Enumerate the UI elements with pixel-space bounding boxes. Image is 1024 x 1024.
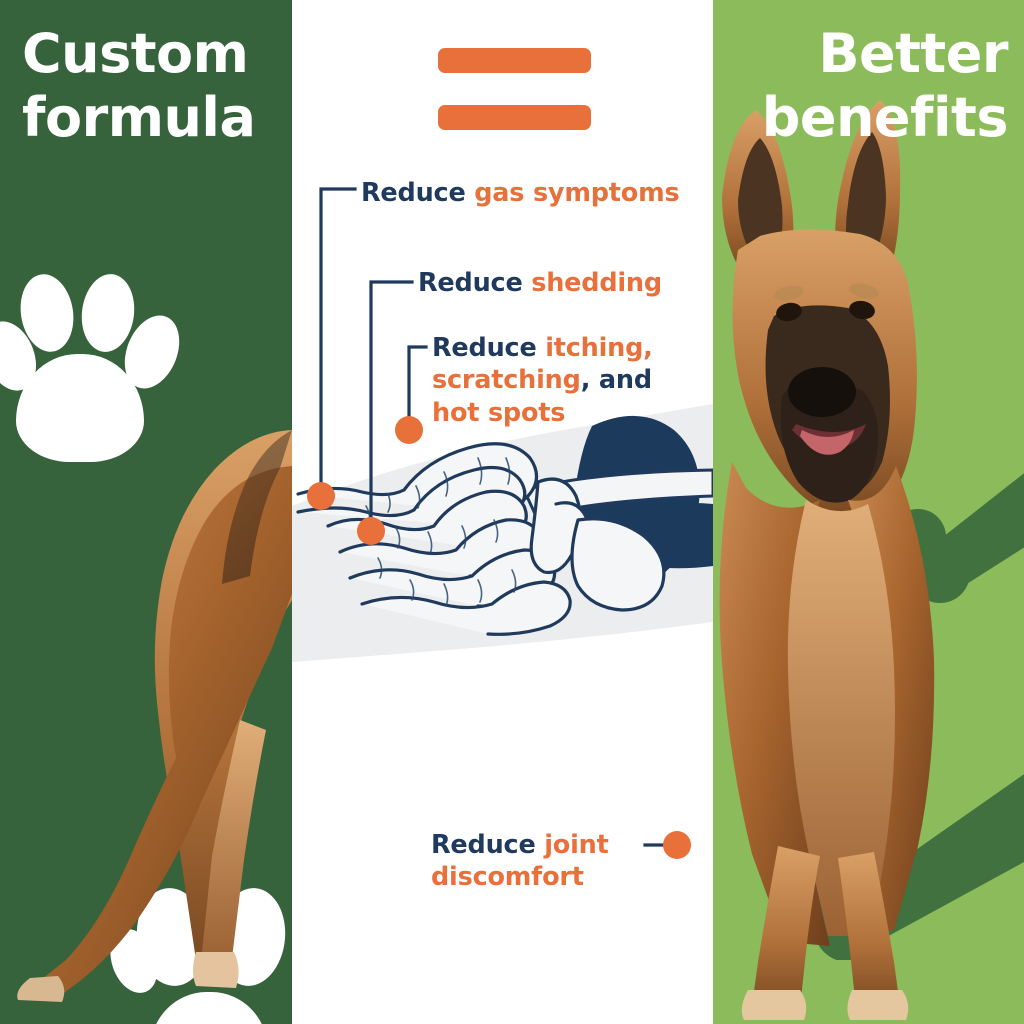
left-panel-heading: Custom formula	[22, 22, 284, 149]
callout-itching-highlight-3: hot spots	[432, 398, 565, 428]
callout-itching-highlight-2: scratching	[432, 365, 581, 395]
callout-shedding: Reduce shedding	[418, 267, 662, 299]
left-panel	[0, 0, 292, 1024]
paw-print-icon-bottom	[112, 888, 298, 1024]
right-panel-heading: Better benefits	[718, 22, 1008, 149]
callout-gas-prefix: Reduce	[361, 178, 474, 208]
bone-icon-top	[910, 405, 1024, 605]
callout-gas-highlight: gas symptoms	[474, 178, 679, 208]
callout-itching-prefix: Reduce	[432, 333, 545, 363]
callout-shedding-highlight: shedding	[531, 268, 662, 298]
callout-joint-discomfort: Reduce joint discomfort	[431, 829, 631, 894]
callout-itching: Reduce itching, scratching, and hot spot…	[432, 332, 690, 429]
callout-itching-highlight-1: itching,	[545, 333, 652, 363]
callout-itching-mid: , and	[581, 365, 652, 395]
callout-gas-symptoms: Reduce gas symptoms	[361, 177, 679, 209]
equals-bar-top	[438, 48, 591, 73]
equals-sign-icon	[438, 48, 591, 130]
infographic-root: Custom formula Better benefits Reduce ga…	[0, 0, 1024, 1024]
callout-joint-prefix: Reduce	[431, 830, 544, 860]
equals-bar-bottom	[438, 105, 591, 130]
bone-icon-bottom	[790, 660, 1024, 960]
callout-shedding-prefix: Reduce	[418, 268, 531, 298]
paw-pad	[150, 992, 268, 1024]
paw-print-icon-main	[0, 262, 198, 462]
paw-toe	[212, 885, 290, 990]
